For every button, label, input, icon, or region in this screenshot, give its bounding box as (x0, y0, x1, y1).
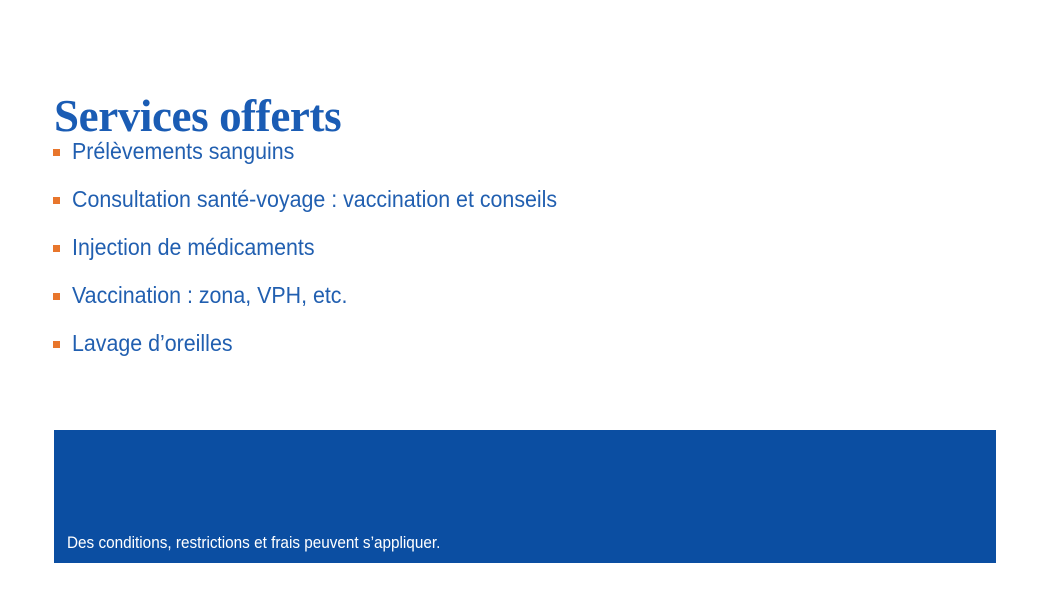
page-title: Services offerts (54, 90, 341, 142)
list-item: Consultation santé-voyage : vaccination … (52, 185, 972, 233)
list-item: Injection de médicaments (52, 233, 972, 281)
list-item: Prélèvements sanguins (52, 137, 972, 185)
list-item-label: Lavage d’oreilles (72, 329, 233, 357)
square-bullet-icon (53, 149, 60, 156)
notice-banner: Des conditions, restrictions et frais pe… (54, 430, 996, 563)
square-bullet-icon (53, 341, 60, 348)
list-item-label: Consultation santé-voyage : vaccination … (72, 185, 557, 213)
services-list: Prélèvements sanguins Consultation santé… (52, 137, 972, 377)
list-item: Vaccination : zona, VPH, etc. (52, 281, 972, 329)
square-bullet-icon (53, 293, 60, 300)
list-item-label: Injection de médicaments (72, 233, 315, 261)
list-item-label: Prélèvements sanguins (72, 137, 294, 165)
notice-text: Des conditions, restrictions et frais pe… (67, 532, 440, 554)
list-item: Lavage d’oreilles (52, 329, 972, 377)
square-bullet-icon (53, 245, 60, 252)
slide-canvas: Services offerts Prélèvements sanguins C… (0, 0, 1050, 600)
square-bullet-icon (53, 197, 60, 204)
list-item-label: Vaccination : zona, VPH, etc. (72, 281, 347, 309)
